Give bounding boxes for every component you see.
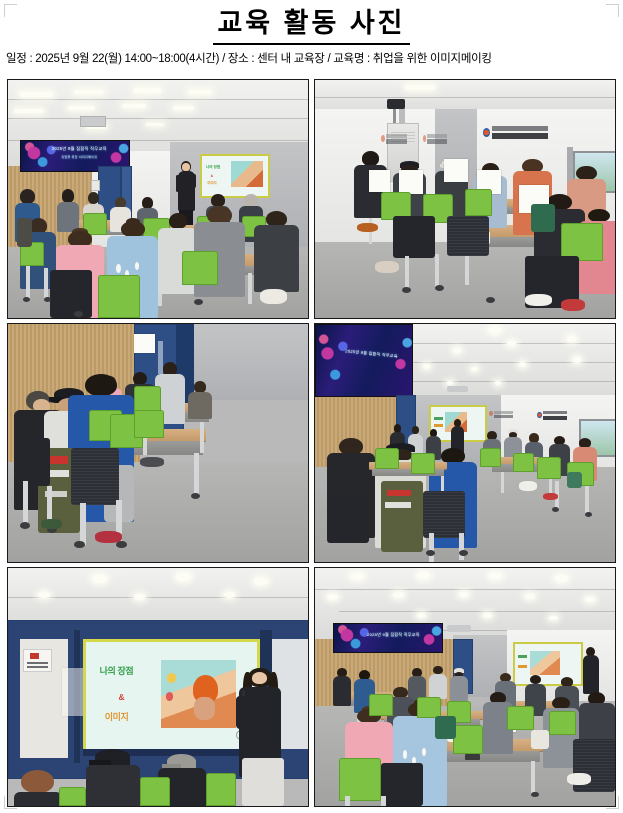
led-banner: 2025년 9월 집합직 직무교육: [315, 324, 413, 397]
ceiling-light: [417, 613, 426, 618]
bag: [567, 472, 582, 489]
chair: [381, 763, 423, 806]
bag: [531, 204, 555, 233]
handout: [369, 170, 390, 191]
ceiling-light: [555, 575, 568, 582]
ceiling-light: [254, 578, 268, 586]
ceiling-light: [567, 336, 576, 342]
document-subtitle: 일정 : 2025년 9월 22(월) 14:00~18:00(4시간) / 장…: [6, 50, 618, 66]
ceiling-light: [405, 85, 435, 90]
participant: [450, 668, 468, 701]
ceiling-light: [224, 592, 235, 598]
chair: [453, 725, 483, 754]
ceiling-light: [489, 326, 501, 333]
ceiling-light: [14, 109, 44, 114]
chair: [417, 697, 441, 718]
chair: [537, 457, 561, 478]
ceiling-light: [351, 573, 364, 580]
chair: [411, 453, 435, 474]
slide-amp: &: [211, 174, 213, 178]
chair: [423, 491, 465, 539]
ceiling-light: [146, 123, 164, 127]
led-banner-text: 2025년 9월 집합직 직무교육: [351, 632, 435, 638]
wall-sign: [381, 132, 408, 146]
presentation-screen: 나의 장점 & 이미지: [200, 154, 270, 198]
photo-grid: 2025년 9월 집합직 직무교육 취업을 위한 이미지메이킹 나의 장점 & …: [7, 79, 616, 807]
chair: [465, 189, 492, 215]
wall-notice: [23, 649, 52, 672]
participant: [429, 666, 447, 699]
participant: [14, 770, 62, 807]
ceiling-light: [495, 381, 501, 385]
chair: [98, 275, 140, 318]
ceiling-light: [393, 592, 404, 598]
participant: [188, 381, 212, 419]
chair: [480, 448, 501, 467]
ceiling-light: [519, 362, 526, 367]
ceiling-light: [134, 594, 145, 600]
photo-6: 2025년 9월 집합직 직무교육: [314, 567, 616, 807]
ceiling-light: [471, 367, 478, 371]
page-title-text: 교육 활동 사진: [213, 6, 409, 45]
chair: [14, 438, 50, 486]
led-banner-text: 2025년 9월 집합직 직무교육: [36, 146, 122, 152]
ceiling-light: [447, 381, 453, 385]
chair: [59, 787, 86, 806]
participant: [254, 211, 299, 292]
chair: [375, 448, 399, 469]
bag: [531, 730, 549, 749]
page-title: 교육 활동 사진: [0, 6, 623, 45]
chair: [242, 758, 284, 806]
projector: [387, 99, 405, 109]
participant: [86, 749, 140, 807]
wall-sign: [483, 125, 549, 142]
handout: [399, 170, 423, 194]
jacket-on-chair: [381, 481, 423, 552]
chair: [507, 706, 534, 730]
slide-text-amp: &: [118, 692, 124, 703]
bag: [435, 716, 456, 740]
ceiling-light: [417, 572, 430, 579]
led-banner: 2025년 9월 집합직 직무교육: [333, 623, 443, 654]
chair: [182, 251, 218, 284]
handout: [444, 159, 468, 183]
ceiling-light: [173, 106, 194, 110]
ceiling-light: [20, 92, 53, 97]
photo-5: 나의 장점 & 이미지: [7, 567, 309, 807]
chair: [393, 216, 435, 259]
notice: [134, 334, 155, 353]
slide-image: [161, 660, 236, 728]
slide-text-3: 이미지: [105, 712, 129, 723]
photo-4: 2025년 9월 집합직 직무교육: [314, 323, 616, 563]
presentation-screen: 나의 장점 & 이미지: [83, 639, 260, 754]
ceiling-light: [74, 90, 104, 95]
chair: [71, 448, 119, 505]
chair: [369, 694, 393, 715]
slide-text-2: 이미지: [207, 181, 216, 185]
wall-sign: [423, 132, 447, 146]
led-banner-subtext: 취업을 위한 이미지메이킹: [36, 155, 122, 160]
chair: [134, 410, 164, 439]
chair: [513, 453, 534, 472]
photo-3: [7, 323, 309, 563]
wall-sign: [489, 410, 513, 420]
chair: [50, 270, 92, 318]
ceiling-light: [483, 613, 492, 618]
ceiling-light: [489, 573, 502, 580]
wall-sign: [537, 410, 567, 422]
ceiling-light: [188, 90, 212, 95]
ceiling-light: [585, 597, 595, 602]
photo-1: 2025년 9월 집합직 직무교육 취업을 위한 이미지메이킹 나의 장점 & …: [7, 79, 309, 319]
chair: [206, 773, 236, 806]
chair: [447, 216, 489, 256]
ceiling-light: [134, 88, 161, 93]
chair: [339, 758, 381, 801]
ceiling-light: [327, 594, 338, 600]
ceiling-light: [68, 106, 95, 110]
chair: [134, 386, 161, 412]
chair: [327, 495, 369, 543]
slide-text-1: 나의 장점: [100, 666, 134, 677]
slide-text: 나의 장점: [206, 165, 220, 169]
photo-2: [314, 79, 616, 319]
participant: [56, 189, 80, 232]
chair: [549, 711, 576, 735]
ceiling-light: [176, 573, 191, 581]
ceiling-light: [38, 592, 50, 598]
presenter: [582, 647, 600, 695]
chair: [140, 777, 170, 806]
bag: [17, 218, 32, 247]
ceiling-light: [122, 104, 146, 108]
ceiling-light: [453, 348, 461, 353]
participant: [333, 668, 351, 706]
ceiling-light: [573, 357, 581, 362]
